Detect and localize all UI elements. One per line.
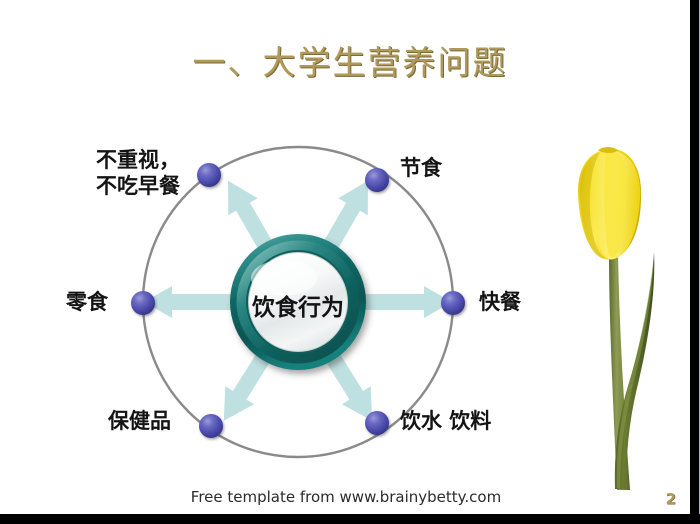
node-sphere-left[interactable] — [131, 291, 155, 315]
node-label-right: 快餐 — [479, 289, 521, 315]
page-number: 2 — [666, 490, 676, 508]
node-sphere-top-right[interactable] — [365, 168, 389, 192]
node-sphere-bottom-right[interactable] — [365, 411, 389, 435]
tulip-illustration — [568, 140, 688, 490]
slide-canvas: 一、大学生营养问题 — [0, 0, 700, 524]
node-label-top-left-line2: 不吃早餐 — [96, 173, 180, 199]
arrow-right — [362, 286, 452, 318]
node-label-bottom-right: 饮水 饮料 — [400, 408, 491, 434]
tulip-image — [568, 140, 688, 490]
node-label-bottom-left: 保健品 — [108, 408, 171, 434]
node-sphere-top-left[interactable] — [197, 163, 221, 187]
slide-frame-bottom — [0, 514, 700, 524]
node-label-top-right: 节食 — [400, 155, 442, 181]
node-label-top-left-line1: 不重视， — [96, 147, 180, 173]
node-sphere-right[interactable] — [441, 291, 465, 315]
tulip-flower — [578, 147, 641, 260]
node-label-top-left: 不重视， 不吃早餐 — [96, 147, 180, 200]
node-sphere-bottom-left[interactable] — [199, 414, 223, 438]
arrow-left — [144, 286, 234, 318]
node-label-left: 零食 — [66, 289, 108, 315]
slide-frame-right — [690, 0, 700, 524]
footer-text: Free template from www.brainybetty.com — [0, 488, 692, 506]
hub-label: 饮食行为 — [228, 288, 368, 322]
